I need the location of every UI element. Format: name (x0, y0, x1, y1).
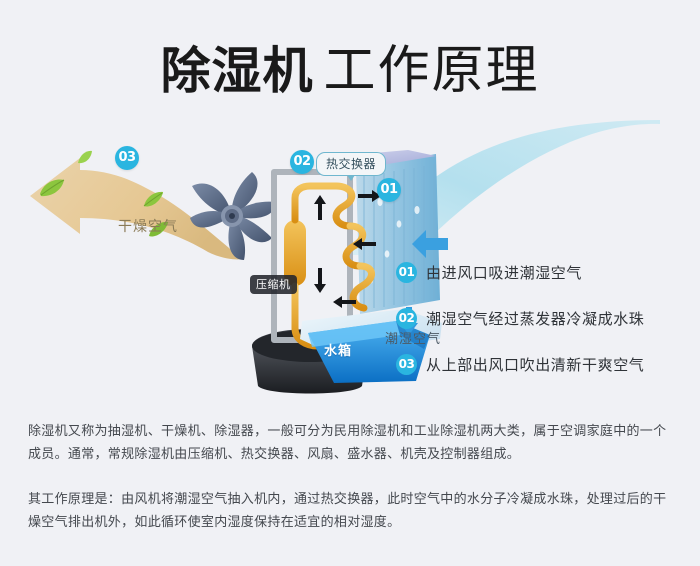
body-paragraph-2: 其工作原理是：由风机将潮湿空气抽入机内，通过热交换器，此时空气中的水分子冷凝成水… (28, 488, 676, 534)
legend-text-01: 由进风口吸进潮湿空气 (426, 262, 582, 283)
diagram-badge-03: 03 (115, 146, 139, 170)
legend-text-03: 从上部出风口吹出清新干爽空气 (426, 354, 644, 375)
legend-item: 01 由进风口吸进潮湿空气 (396, 255, 686, 289)
page-title: 除湿机工作原理 (0, 28, 700, 103)
diagram-badge-02: 02 (290, 150, 314, 174)
legend-badge-01: 01 (396, 262, 417, 283)
title-light-part: 工作原理 (323, 41, 539, 101)
diagram-label-heat-exchanger: 热交换器 (316, 152, 386, 176)
diagram-label-compressor: 压缩机 (250, 275, 297, 294)
body-paragraph-1: 除湿机又称为抽湿机、干燥机、除湿器，一般可分为民用除湿机和工业除湿机两大类，属于… (28, 420, 676, 466)
legend-item: 02 潮湿空气经过蒸发器冷凝成水珠 (396, 301, 686, 335)
legend-badge-02: 02 (396, 308, 417, 329)
legend-badge-03: 03 (396, 354, 417, 375)
diagram-label-water-tank: 水箱 (324, 340, 352, 359)
body-copy: 除湿机又称为抽湿机、干燥机、除湿器，一般可分为民用除湿机和工业除湿机两大类，属于… (28, 420, 676, 534)
legend-list: 01 由进风口吸进潮湿空气 02 潮湿空气经过蒸发器冷凝成水珠 03 从上部出风… (396, 255, 686, 393)
legend-text-02: 潮湿空气经过蒸发器冷凝成水珠 (426, 308, 644, 329)
diagram-label-dry-air: 干燥空气 (118, 216, 178, 236)
diagram-badge-01: 01 (377, 178, 401, 202)
legend-item: 03 从上部出风口吹出清新干爽空气 (396, 347, 686, 381)
infographic-page: 除湿机工作原理 (0, 0, 700, 566)
leaf-icon (76, 150, 94, 166)
leaf-icon (38, 178, 66, 198)
title-bold-part: 除湿机 (160, 42, 313, 100)
leaf-icon (143, 190, 165, 208)
